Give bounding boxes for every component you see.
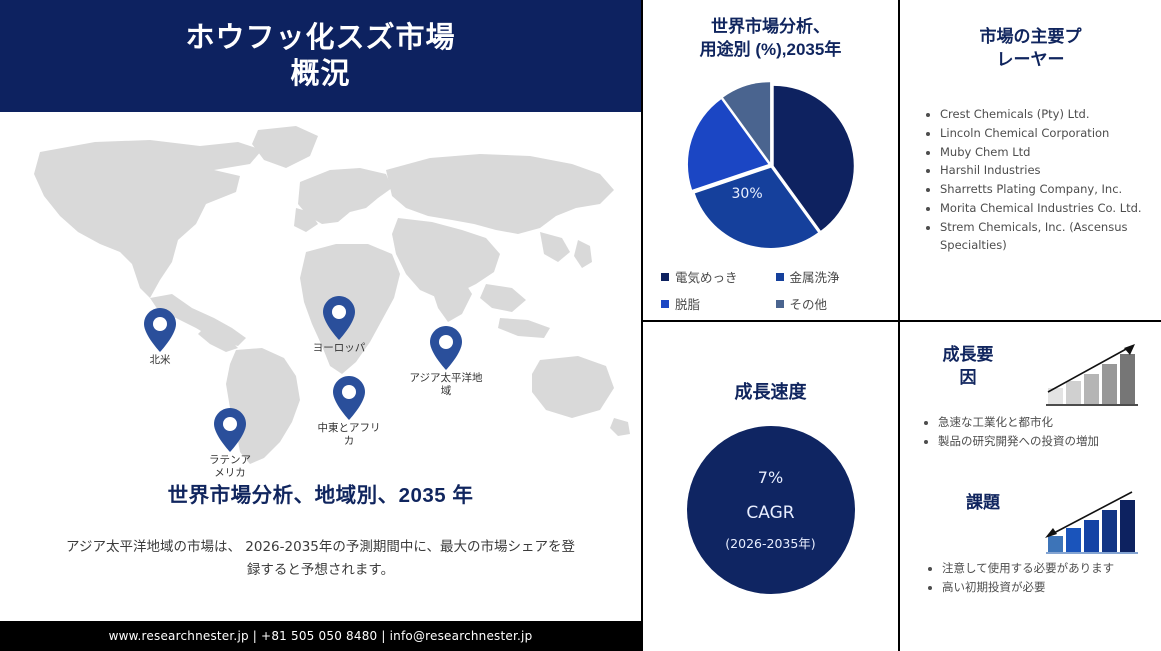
bar xyxy=(1066,381,1081,404)
legend-label: 金属洗浄 xyxy=(790,267,840,286)
bar xyxy=(1084,520,1099,552)
growth-drivers-title-line2: 因 xyxy=(922,367,1014,390)
legend-item-others[interactable]: その他 xyxy=(776,294,887,313)
challenges-bar-chart xyxy=(1040,484,1144,558)
pie-panel-title: 世界市場分析、 用途別 (%),2035年 xyxy=(643,16,898,62)
key-players-list: Crest Chemicals (Pty) Ltd. Lincoln Chemi… xyxy=(926,106,1161,255)
page-title-line1: ホウフッ化スズ市場 xyxy=(185,20,455,56)
map-landmasses xyxy=(34,126,630,464)
cagr-period: (2026-2035年) xyxy=(725,533,815,552)
list-item: Strem Chemicals, Inc. (Ascensus Specialt… xyxy=(940,219,1147,255)
legend-label: その他 xyxy=(790,294,828,313)
map-pin-label: ラテンアメリカ xyxy=(206,454,254,480)
list-item: 注意して使用する必要があります xyxy=(942,560,1158,577)
key-players-title-line1: 市場の主要プ xyxy=(936,26,1125,49)
legend-item-electroplating[interactable]: 電気めっき xyxy=(661,267,772,286)
region-description: アジア太平洋地域の市場は、 2026-2035年の予測期間中に、最大の市場シェア… xyxy=(60,536,581,582)
list-item: 製品の研究開発への投資の増加 xyxy=(938,433,1160,450)
key-players-title-line2: レーヤー xyxy=(936,49,1125,72)
cagr-circle: 7% CAGR (2026-2035年) xyxy=(687,426,855,594)
footer-contact-text: www.researchnester.jp | +81 505 050 8480… xyxy=(109,629,533,643)
legend-item-metal-cleaning[interactable]: 金属洗浄 xyxy=(776,267,887,286)
map-pin-label: ヨーロッパ xyxy=(311,342,367,355)
list-item: Lincoln Chemical Corporation xyxy=(940,125,1147,143)
pie-title-line2: 用途別 (%),2035年 xyxy=(657,39,884,62)
list-item: 高い初期投資が必要 xyxy=(942,579,1158,596)
world-map: 北米 ヨーロッパ アジア太平洋地域 xyxy=(0,112,641,467)
legend-label: 電気めっき xyxy=(675,267,738,286)
list-item: Morita Chemical Industries Co. Ltd. xyxy=(940,200,1147,218)
key-players-panel: 市場の主要プ レーヤー Crest Chemicals (Pty) Ltd. L… xyxy=(898,0,1161,322)
map-pin-label: アジア太平洋地域 xyxy=(409,372,483,398)
growth-drivers-title-line1: 成長要 xyxy=(922,344,1014,367)
bar xyxy=(1084,374,1099,404)
map-pin-label: 北米 xyxy=(116,354,204,367)
list-item: Muby Chem Ltd xyxy=(940,144,1147,162)
pie-chart-svg xyxy=(680,74,862,256)
page-title-line2: 概況 xyxy=(290,56,350,92)
location-pin-icon xyxy=(144,308,176,352)
world-map-svg xyxy=(0,112,641,467)
legend-item-degreasing[interactable]: 脱脂 xyxy=(661,294,772,313)
legend-swatch-icon xyxy=(661,300,669,308)
challenges-list: 注意して使用する必要があります 高い初期投資が必要 xyxy=(926,560,1158,597)
pie-chart: 30% xyxy=(680,74,862,256)
footer-bar: www.researchnester.jp | +81 505 050 8480… xyxy=(0,621,641,651)
list-item: Sharretts Plating Company, Inc. xyxy=(940,181,1147,199)
cagr-metric: CAGR xyxy=(746,503,794,523)
infographic-root: ホウフッ化スズ市場 概況 xyxy=(0,0,1161,651)
market-by-application-panel: 世界市場分析、 用途別 (%),2035年 xyxy=(643,0,900,322)
location-pin-icon xyxy=(214,408,246,452)
arrow-up-icon xyxy=(1124,344,1135,355)
legend-swatch-icon xyxy=(661,273,669,281)
list-item: 急速な工業化と都市化 xyxy=(938,414,1160,431)
location-pin-icon xyxy=(430,326,462,370)
key-players-title: 市場の主要プ レーヤー xyxy=(900,26,1161,72)
cagr-value: 7% xyxy=(758,468,783,487)
location-pin-icon xyxy=(323,296,355,340)
pie-title-line1: 世界市場分析、 xyxy=(657,16,884,39)
title-banner: ホウフッ化スズ市場 概況 xyxy=(0,0,641,112)
challenges-title: 課題 xyxy=(940,492,1026,515)
location-pin-icon xyxy=(333,376,365,420)
legend-label: 脱脂 xyxy=(675,294,700,313)
pie-legend: 電気めっき 金属洗浄 脱脂 その他 xyxy=(661,267,886,313)
legend-swatch-icon xyxy=(776,273,784,281)
growth-rate-title: 成長速度 xyxy=(643,380,898,404)
growth-rate-panel: 成長速度 7% CAGR (2026-2035年) xyxy=(643,320,900,651)
bar xyxy=(1102,510,1117,552)
left-panel: ホウフッ化スズ市場 概況 xyxy=(0,0,643,651)
bar xyxy=(1066,528,1081,552)
bar xyxy=(1120,500,1135,552)
bar xyxy=(1048,536,1063,552)
growth-drivers-title: 成長要 因 xyxy=(922,344,1014,390)
region-heading: 世界市場分析、地域別、2035 年 xyxy=(0,478,641,508)
list-item: Crest Chemicals (Pty) Ltd. xyxy=(940,106,1147,124)
bar xyxy=(1120,354,1135,404)
growth-drivers-list: 急速な工業化と都市化 製品の研究開発への投資の増加 xyxy=(922,414,1160,453)
list-item: Harshil Industries xyxy=(940,162,1147,180)
growth-drivers-bar-chart xyxy=(1040,336,1144,410)
map-pin-label: 中東とアフリカ xyxy=(314,422,384,448)
growth-drivers-challenges-panel: 成長要 因 急速な工業化と都市化 製品の研究開発への投資の増加 課題 xyxy=(898,320,1161,651)
bar xyxy=(1102,364,1117,404)
pie-data-label: 30% xyxy=(732,186,763,202)
legend-swatch-icon xyxy=(776,300,784,308)
